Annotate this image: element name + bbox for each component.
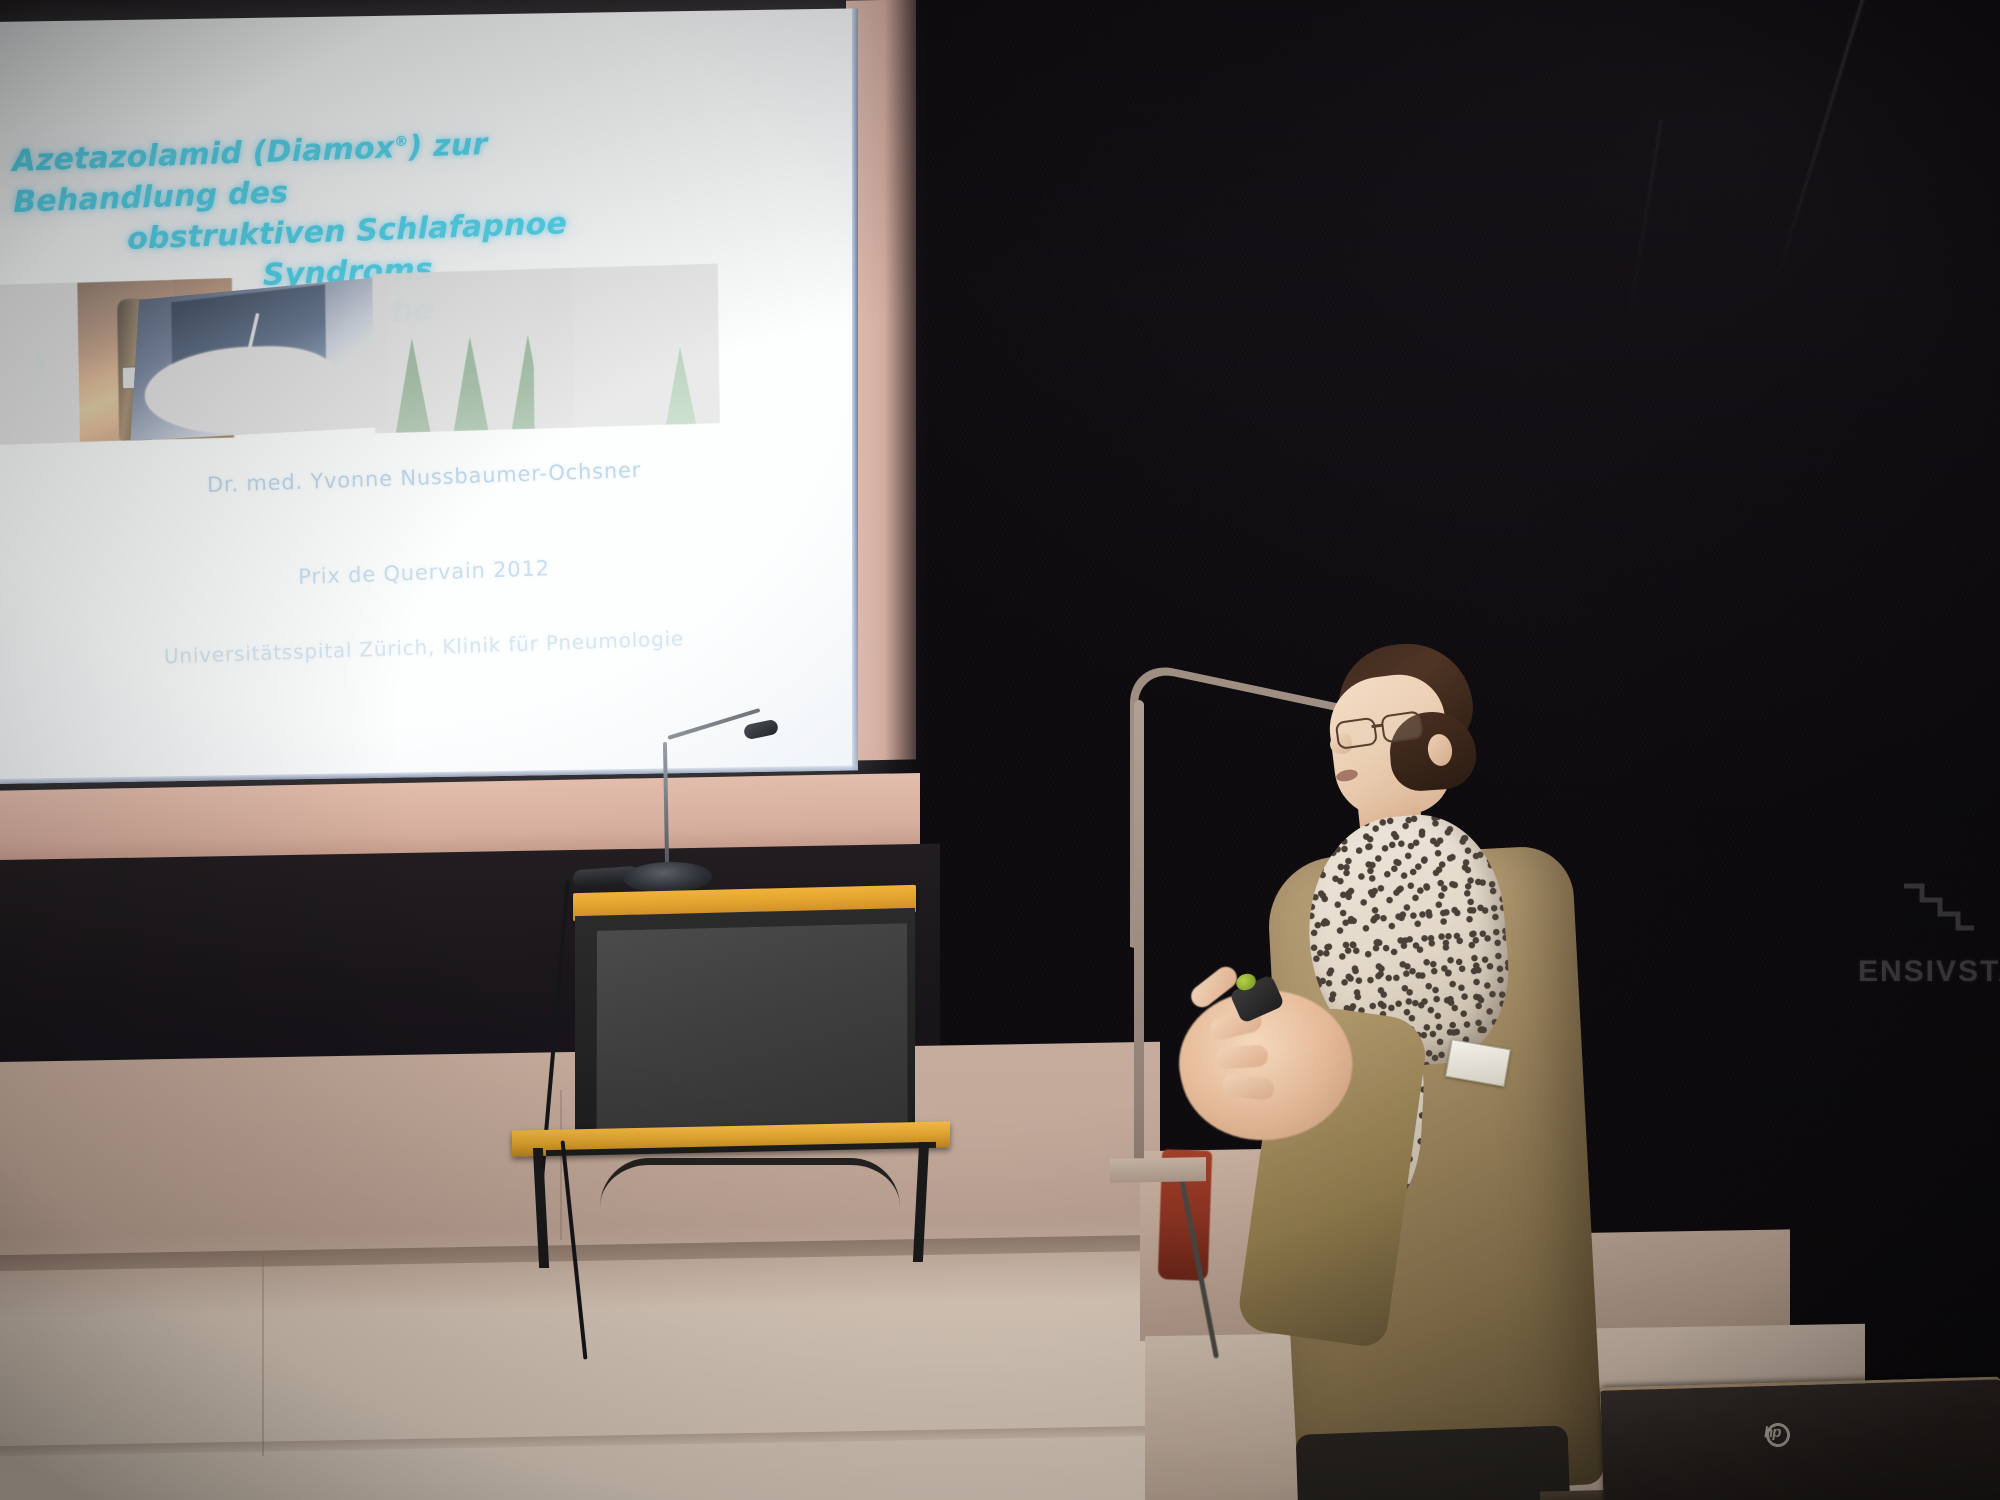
glasses-lens-right <box>1380 710 1424 743</box>
slide-award: Prix de Quervain 2012 <box>0 537 858 600</box>
table-arch <box>600 1158 900 1207</box>
fir-tree-4 <box>664 344 697 425</box>
stage-panel-line-2 <box>560 1090 562 1240</box>
glasses-lens-left <box>1335 717 1379 750</box>
laptop-lid <box>1600 1376 2000 1500</box>
registered-mark: ® <box>394 134 409 150</box>
handrail-post <box>1134 700 1144 1180</box>
photo-building <box>533 263 720 428</box>
presentation-photo-scene: Azetazolamid (Diamox®) zur Behandlung de… <box>0 0 2000 1500</box>
handrail-base <box>1110 1157 1206 1183</box>
speaker-finger-3 <box>1215 1044 1268 1070</box>
lectern-front-panel <box>596 922 908 1132</box>
projection-screen: Azetazolamid (Diamox®) zur Behandlung de… <box>0 8 858 784</box>
slide-photo-strip <box>0 263 720 445</box>
fir-tree-1 <box>394 336 431 433</box>
speaker-skirt <box>1296 1425 1577 1500</box>
slide-title-line1-start: Azetazolamid (Diamox <box>12 130 395 179</box>
slide-presenter: Dr. med. Yvonne Nussbaumer-Ochsner <box>0 442 858 505</box>
slide: Azetazolamid (Diamox®) zur Behandlung de… <box>0 8 858 784</box>
slide-affiliation: Universitätsspital Zürich, Klinik für Pn… <box>0 612 858 674</box>
fir-tree-2 <box>452 334 489 431</box>
stage-panel-line <box>262 1256 264 1456</box>
hp-logo-letters: hp <box>1764 1424 1781 1442</box>
building-shape <box>561 291 658 378</box>
speaker-person <box>1240 630 2000 1500</box>
screen-edge-right <box>852 8 858 770</box>
photo-sleep-study <box>123 273 390 441</box>
